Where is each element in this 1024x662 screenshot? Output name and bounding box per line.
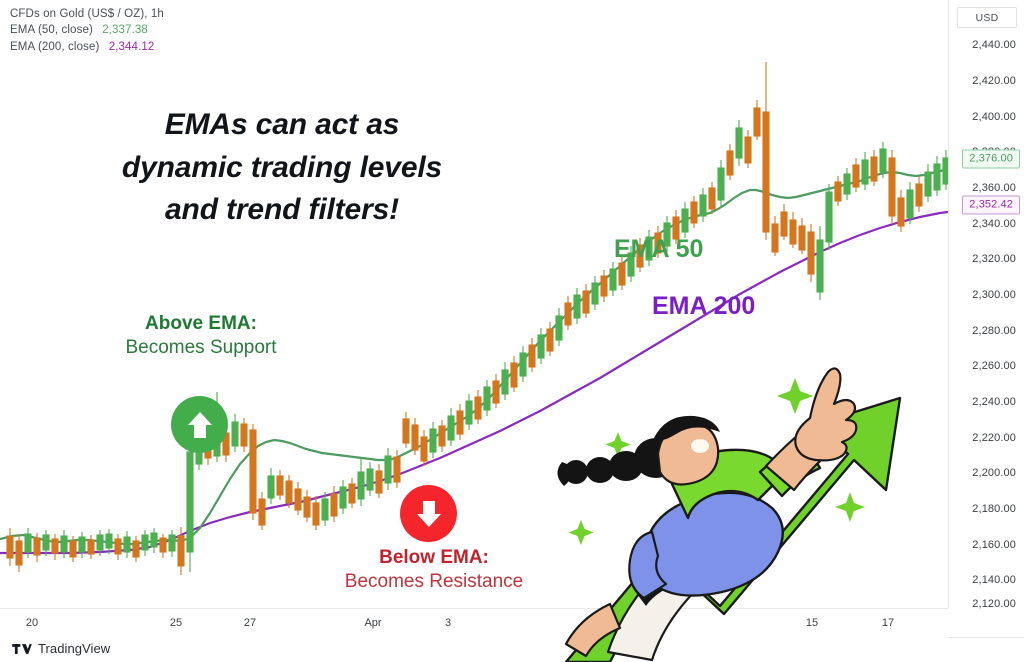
ema50-value: 2,337.38 (102, 24, 148, 36)
tradingview-branding[interactable]: TradingView (12, 641, 110, 656)
arrow-up-badge (171, 396, 228, 453)
arrow-up-icon (186, 410, 214, 440)
price-tick: 2,320.00 (972, 253, 1016, 265)
price-tick: 2,180.00 (972, 503, 1016, 515)
time-tick: 3 (445, 617, 451, 629)
price-tick: 2,340.00 (972, 218, 1016, 230)
label-ema50: EMA 50 (614, 235, 703, 264)
price-tag-ema200[interactable]: 2,352.42 (962, 196, 1020, 215)
price-tick: 2,240.00 (972, 396, 1016, 408)
time-tick: 25 (170, 617, 182, 629)
legend-symbol[interactable]: CFDs on Gold (US$ / OZ), 1h (10, 6, 164, 22)
currency-badge[interactable]: USD (957, 7, 1017, 28)
tradingview-logo-icon (12, 643, 32, 655)
ema200-label: EMA (200, close) (10, 41, 99, 53)
ema200-value: 2,344.12 (109, 41, 155, 53)
annotation-below-title: Below EMA: (334, 546, 534, 570)
price-tick: 2,120.00 (972, 598, 1016, 610)
headline-line-2: dynamic trading levels (62, 147, 502, 190)
price-tick: 2,280.00 (972, 325, 1016, 337)
price-tick: 2,400.00 (972, 111, 1016, 123)
tradingview-label: TradingView (38, 641, 110, 656)
legend-ema200[interactable]: EMA (200, close) 2,344.12 (10, 39, 164, 55)
price-tick: 2,200.00 (972, 467, 1016, 479)
price-tick: 2,260.00 (972, 360, 1016, 372)
legend-ema50[interactable]: EMA (50, close) 2,337.38 (10, 22, 164, 38)
price-tick: 2,300.00 (972, 289, 1016, 301)
headline-line-3: and trend filters! (62, 189, 502, 232)
blue-jacket (629, 493, 783, 598)
tradingview-chart-screenshot: CFDs on Gold (US$ / OZ), 1h EMA (50, clo… (0, 0, 1024, 662)
price-tick: 2,220.00 (972, 432, 1016, 444)
page-title: EMAs can act as dynamic trading levels a… (62, 104, 502, 232)
price-tick: 2,360.00 (972, 182, 1016, 194)
time-tick: 20 (26, 617, 38, 629)
chart-legend: CFDs on Gold (US$ / OZ), 1h EMA (50, clo… (10, 6, 164, 55)
annotation-above-title: Above EMA: (106, 312, 296, 336)
price-axis[interactable]: USD 2,440.00 2,420.00 2,400.00 2,380.00 … (948, 0, 1024, 608)
head (654, 416, 720, 485)
price-tick: 2,420.00 (972, 75, 1016, 87)
symbol-text: CFDs on Gold (US$ / OZ), 1h (10, 8, 164, 20)
annotation-below-ema: Below EMA: Becomes Resistance (334, 546, 534, 595)
ema50-label: EMA (50, close) (10, 24, 93, 36)
annotation-above-ema: Above EMA: Becomes Support (106, 312, 296, 361)
annotation-above-subtitle: Becomes Support (106, 336, 296, 361)
price-tick: 2,160.00 (972, 539, 1016, 551)
label-ema200: EMA 200 (652, 292, 755, 321)
price-tick: 2,440.00 (972, 39, 1016, 51)
time-tick: 27 (244, 617, 256, 629)
headline-line-1: EMAs can act as (62, 104, 502, 147)
woman-riding-growth-arrow-illustration (548, 362, 908, 662)
time-tick: Apr (364, 617, 381, 629)
arrow-down-icon (415, 499, 443, 529)
annotation-below-subtitle: Becomes Resistance (334, 570, 534, 595)
price-tick: 2,140.00 (972, 574, 1016, 586)
arrow-down-badge (400, 485, 457, 542)
price-tag-ema50[interactable]: 2,376.00 (962, 150, 1020, 169)
